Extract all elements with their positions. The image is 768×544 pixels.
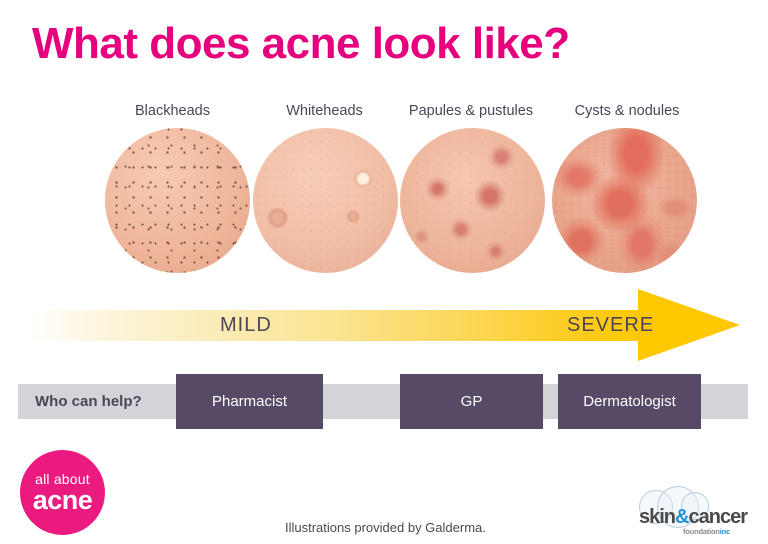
- logo-word-inc: inc: [720, 527, 730, 536]
- provider-label-pharmacist: Pharmacist: [212, 393, 287, 410]
- provider-label-dermatologist: Dermatologist: [583, 393, 676, 410]
- severity-label-severe: SEVERE: [567, 314, 654, 337]
- all-about-acne-logo-line2: acne: [33, 487, 93, 514]
- skin-cysts-nodules-photo: [552, 128, 697, 273]
- logo-word-skin: skin: [639, 506, 675, 528]
- column-label-whiteheads: Whiteheads: [252, 103, 397, 119]
- page-title: What does acne look like?: [32, 20, 570, 68]
- who-can-help-row: Who can help? Pharmacist GP Dermatologis…: [0, 374, 768, 438]
- logo-word-foundation: foundation: [683, 527, 720, 536]
- logo-ampersand: &: [675, 506, 688, 528]
- skin-whiteheads-photo: [253, 128, 398, 273]
- skin-texture-cysts: [552, 128, 697, 273]
- skin-blackheads-photo: [105, 128, 250, 273]
- column-label-papules-pustules: Papules & pustules: [396, 103, 546, 119]
- skin-cancer-logo-wordmark: skin&cancer: [639, 506, 747, 529]
- skin-texture-papules: [400, 128, 545, 273]
- provider-box-pharmacist[interactable]: Pharmacist: [176, 374, 323, 429]
- column-label-blackheads: Blackheads: [100, 103, 245, 119]
- severity-label-mild: MILD: [220, 314, 272, 337]
- all-about-acne-logo[interactable]: all about acne: [20, 450, 105, 535]
- severity-arrow: MILD SEVERE: [30, 289, 740, 361]
- severity-arrow-shaft: [30, 310, 655, 341]
- severity-images-row: [100, 128, 720, 274]
- skin-cancer-foundation-logo[interactable]: skin&cancer foundationinc: [635, 486, 765, 538]
- provider-box-gp[interactable]: GP: [400, 374, 543, 429]
- skin-cancer-logo-tagline: foundationinc: [683, 527, 730, 536]
- all-about-acne-logo-line1: all about: [35, 472, 90, 486]
- skin-papules-pustules-photo: [400, 128, 545, 273]
- illustration-credit: Illustrations provided by Galderma.: [285, 520, 486, 535]
- who-can-help-question: Who can help?: [35, 393, 142, 410]
- skin-texture-blackheads: [105, 128, 250, 273]
- severity-labels-row: Blackheads Whiteheads Papules & pustules…: [100, 103, 720, 123]
- logo-word-cancer: cancer: [688, 506, 747, 528]
- skin-texture-whiteheads: [253, 128, 398, 273]
- provider-label-gp: GP: [461, 393, 483, 410]
- column-label-cysts-nodules: Cysts & nodules: [552, 103, 702, 119]
- provider-box-dermatologist[interactable]: Dermatologist: [558, 374, 701, 429]
